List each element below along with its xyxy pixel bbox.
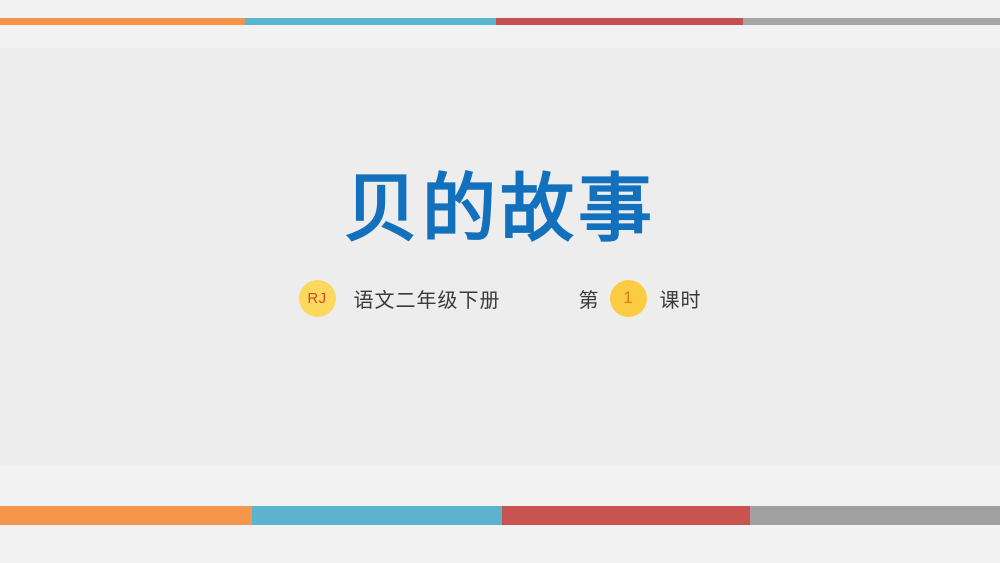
subject-group: RJ 语文二年级下册 xyxy=(299,279,501,317)
title-slide: 贝的故事 RJ 语文二年级下册 第 1 课时 xyxy=(0,0,1000,563)
slide-content: 贝的故事 RJ 语文二年级下册 第 1 课时 xyxy=(0,0,1000,563)
lesson-number-label: 1 xyxy=(623,288,632,308)
page-title: 贝的故事 xyxy=(0,163,1000,255)
subject-label: 语文二年级下册 xyxy=(354,284,501,313)
lesson-prefix-label: 第 xyxy=(579,284,600,313)
publisher-badge-label: RJ xyxy=(307,290,326,307)
lesson-suffix-label: 课时 xyxy=(660,284,702,313)
lesson-number-badge: 1 xyxy=(610,280,647,317)
lesson-group: 第 1 课时 xyxy=(579,279,702,317)
publisher-badge: RJ xyxy=(299,280,336,317)
slide-meta-row: RJ 语文二年级下册 第 1 课时 xyxy=(0,279,1000,317)
